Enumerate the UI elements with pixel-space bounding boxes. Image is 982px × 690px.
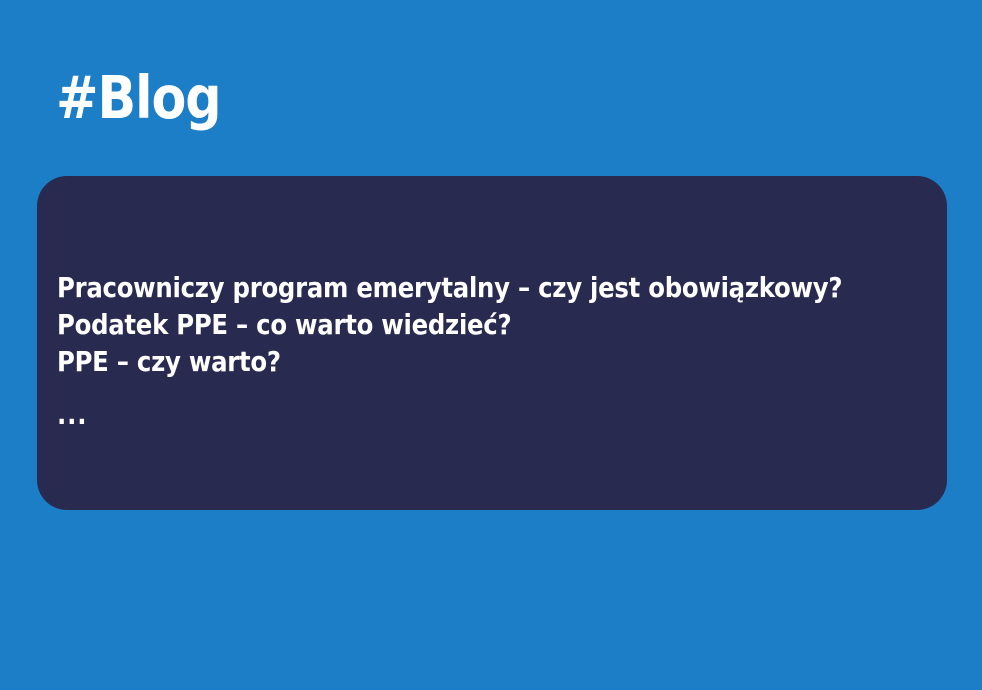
list-item[interactable]: Pracowniczy program emerytalny – czy jes… <box>57 269 814 306</box>
list-item[interactable]: Podatek PPE – co warto wiedzieć? <box>57 306 814 343</box>
list-item[interactable]: PPE – czy warto? <box>57 343 814 380</box>
blog-post-card: Pracowniczy program emerytalny – czy jes… <box>37 176 947 510</box>
blog-section: #Blog Pracowniczy program emerytalny – c… <box>0 0 982 690</box>
blog-post-list: Pracowniczy program emerytalny – czy jes… <box>57 269 927 429</box>
more-posts-indicator: ... <box>57 380 814 429</box>
page-title: #Blog <box>56 68 221 127</box>
